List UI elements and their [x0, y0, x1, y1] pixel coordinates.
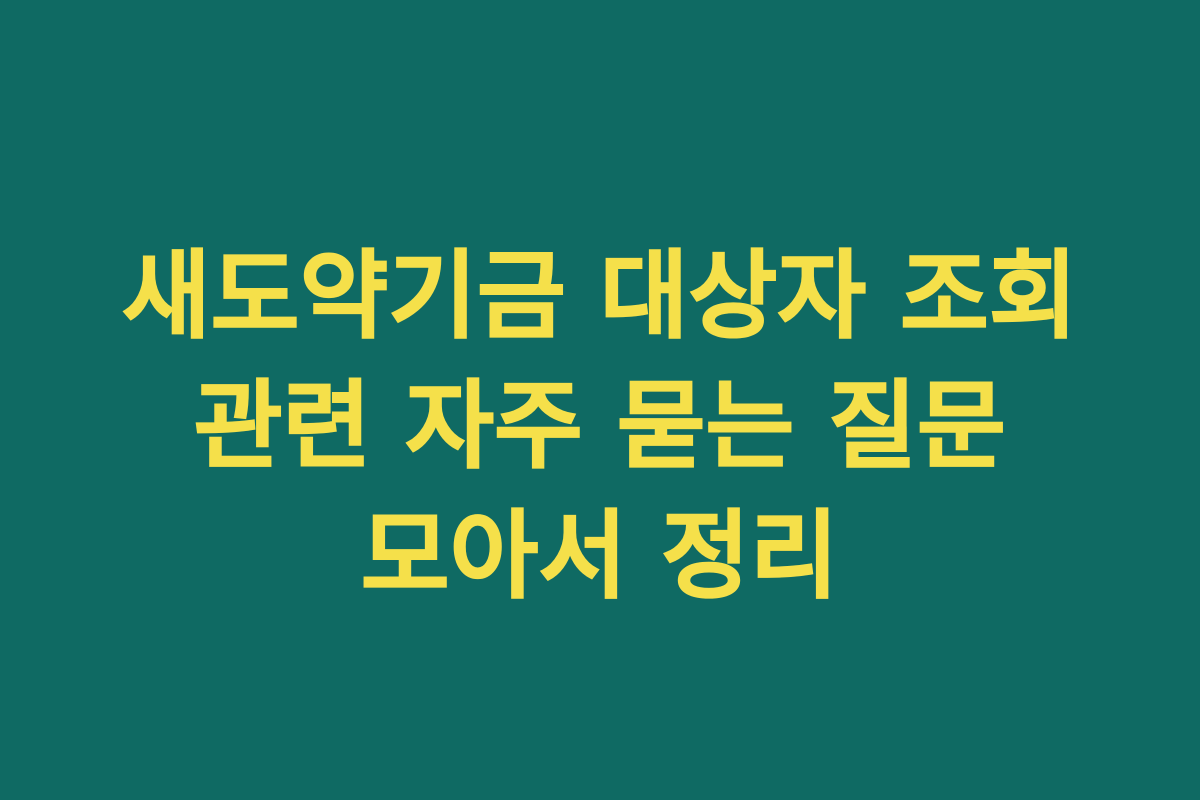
page-title: 새도약기금 대상자 조회 관련 자주 묻는 질문 모아서 정리 — [95, 231, 1105, 621]
banner-card: 새도약기금 대상자 조회 관련 자주 묻는 질문 모아서 정리 — [0, 0, 1200, 800]
